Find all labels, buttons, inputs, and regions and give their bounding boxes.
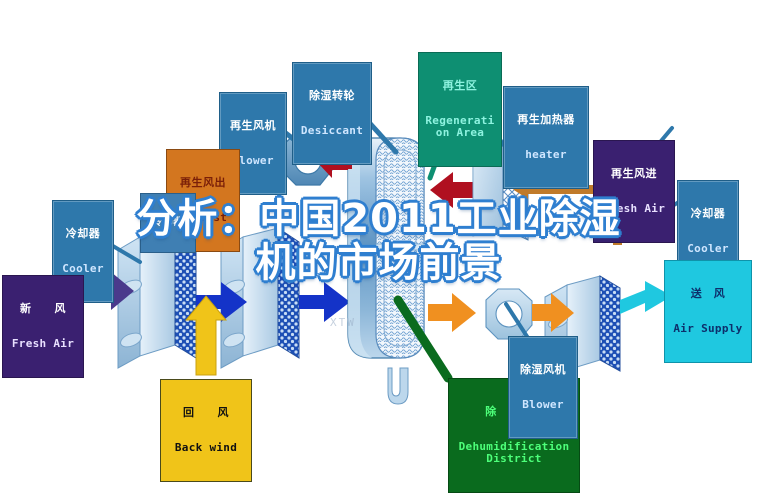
label-air-supply[interactable]: 送 风 Air Supply (664, 260, 752, 363)
label-air-supply-cn: 送 风 (667, 288, 749, 300)
watermark-text: XTW (330, 316, 356, 329)
label-back-wind-en: Back wind (163, 442, 249, 454)
label-desiccant-wheel-en: Desiccant (295, 125, 369, 137)
label-fresh-air-intake-cn: 新 风 (5, 303, 81, 315)
label-dehumidification-district-en: Dehumidification District (451, 441, 577, 465)
label-regeneration-area-cn: 再生区 (421, 80, 499, 92)
label-regeneration-heater-cn: 再生加热器 (506, 114, 586, 126)
diagram-canvas: 除湿转轮 Desiccant 再生风机 Blower 再生风出 Exhaust … (0, 0, 757, 488)
label-regeneration-blower-cn: 再生风机 (222, 120, 284, 132)
dry-air-arrow-1 (428, 293, 476, 332)
label-regeneration-area[interactable]: 再生区 Regenerati on Area (418, 52, 502, 167)
label-cooler-mid[interactable]: 冷却器 (140, 193, 196, 253)
label-cooler-right-en: Cooler (680, 243, 736, 255)
label-regeneration-area-en: Regenerati on Area (421, 115, 499, 139)
label-dehumidification-blower-cn: 除湿风机 (511, 364, 575, 376)
label-desiccant-wheel-cn: 除湿转轮 (295, 90, 369, 102)
label-fresh-air-intake[interactable]: 新 风 Fresh Air (2, 275, 84, 378)
label-regeneration-heater-en: heater (506, 149, 586, 161)
label-cooler-left-cn: 冷却器 (55, 228, 111, 240)
label-cooler-mid-cn: 冷却器 (143, 218, 193, 229)
label-back-wind[interactable]: 回 风 Back wind (160, 379, 252, 482)
label-cooler-left-en: Cooler (55, 263, 111, 275)
label-regeneration-fresh-air[interactable]: 再生风进 Fresh Air (593, 140, 675, 243)
regen-hot-arrow-2 (430, 172, 473, 208)
label-desiccant-wheel[interactable]: 除湿转轮 Desiccant (292, 62, 372, 165)
label-regeneration-exhaust-cn: 再生风出 (169, 177, 237, 189)
condensate-drain (388, 368, 408, 404)
label-regeneration-fresh-air-cn: 再生风进 (596, 168, 672, 180)
label-dehumidification-blower-en: Blower (511, 399, 575, 411)
label-cooler-right-cn: 冷却器 (680, 208, 736, 220)
label-regeneration-heater[interactable]: 再生加热器 heater (503, 86, 589, 189)
label-dehumidification-blower[interactable]: 除湿风机 Blower (508, 336, 578, 439)
label-fresh-air-intake-en: Fresh Air (5, 338, 81, 350)
label-regeneration-fresh-air-en: Fresh Air (596, 203, 672, 215)
label-back-wind-cn: 回 风 (163, 407, 249, 419)
label-air-supply-en: Air Supply (667, 323, 749, 335)
